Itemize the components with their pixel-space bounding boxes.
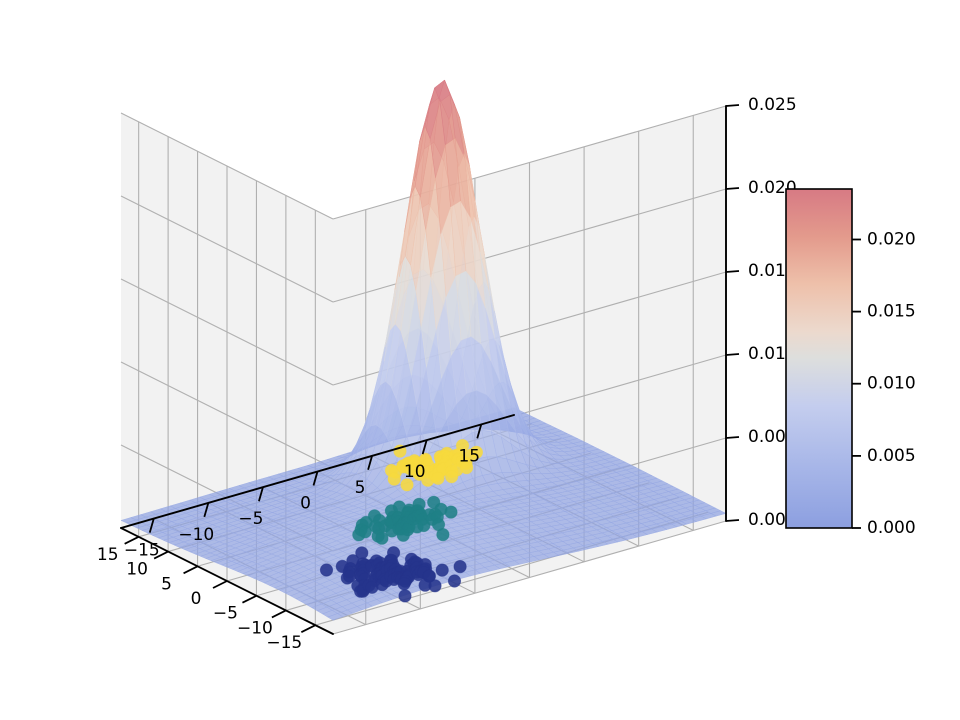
svg-text:0.005: 0.005 xyxy=(867,446,916,466)
svg-text:0.020: 0.020 xyxy=(867,230,916,250)
svg-text:−10: −10 xyxy=(178,525,214,545)
svg-text:0.010: 0.010 xyxy=(867,374,916,394)
colorbar[interactable] xyxy=(786,189,852,528)
svg-text:15: 15 xyxy=(458,446,480,466)
svg-text:0.015: 0.015 xyxy=(867,302,916,322)
svg-text:0.000: 0.000 xyxy=(867,518,916,538)
svg-text:0.025: 0.025 xyxy=(748,95,797,115)
svg-text:−15: −15 xyxy=(124,541,160,561)
figure-canvas: −15−10−5051015−15−10−50510150.0000.0050.… xyxy=(0,0,960,720)
plot-svg: −15−10−5051015−15−10−50510150.0000.0050.… xyxy=(0,0,960,720)
svg-text:0: 0 xyxy=(191,589,202,609)
svg-text:−5: −5 xyxy=(238,509,263,529)
svg-text:−10: −10 xyxy=(237,618,273,638)
svg-text:15: 15 xyxy=(97,545,119,565)
svg-text:10: 10 xyxy=(126,560,148,580)
colorbar-tick-labels: 0.0000.0050.0100.0150.020 xyxy=(867,230,916,539)
svg-text:0: 0 xyxy=(300,494,311,514)
svg-text:5: 5 xyxy=(161,574,172,594)
svg-text:−5: −5 xyxy=(213,604,238,624)
svg-text:10: 10 xyxy=(404,462,426,482)
colorbar-ticks xyxy=(852,240,861,529)
svg-text:5: 5 xyxy=(355,478,366,498)
